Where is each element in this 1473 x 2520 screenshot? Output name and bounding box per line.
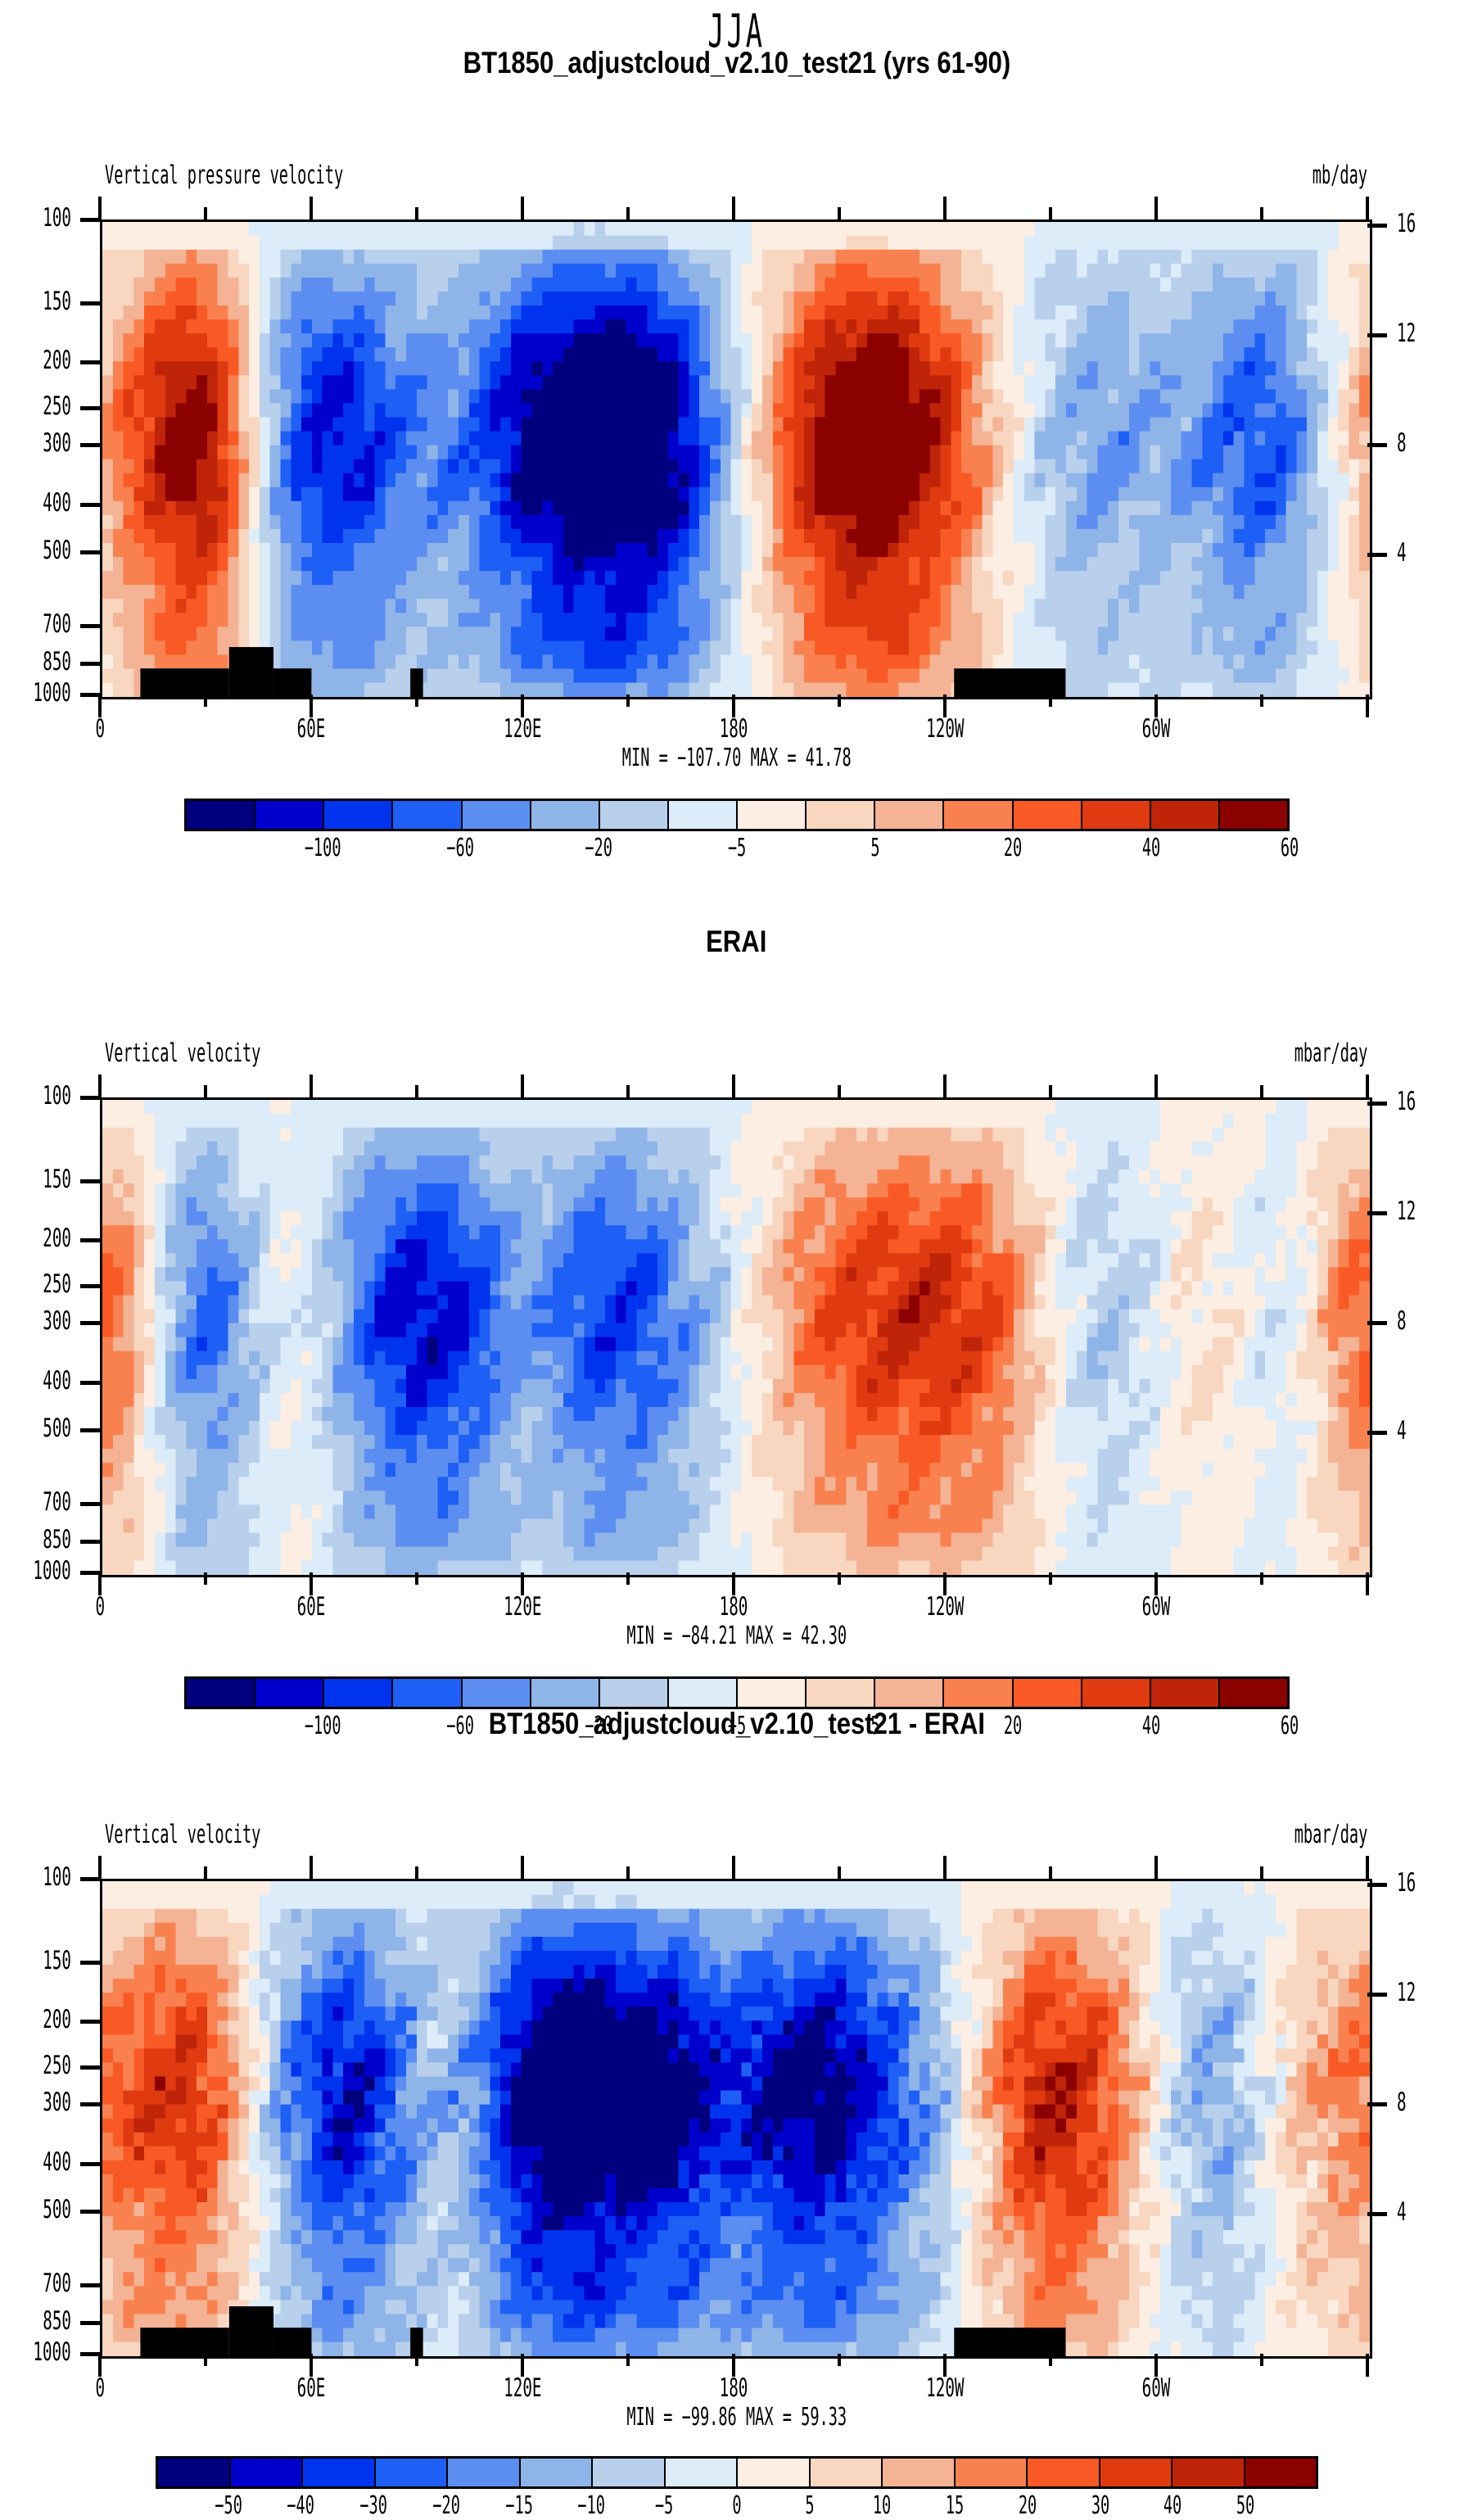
panel-model-units: mb/day — [1163, 161, 1367, 190]
panel-model-colorbar-cell — [1220, 801, 1287, 829]
panel-diff-colorbar-label-text: 5 — [805, 2491, 814, 2520]
panel-diff-colorbar-label-text: 0 — [732, 2491, 741, 2520]
panel-obs-colorbar-cell — [255, 1679, 324, 1707]
panel-diff-ylabel: 850 — [0, 2306, 71, 2336]
panel-obs-colorbar-cell — [875, 1679, 944, 1707]
panel-model-xtick-top — [732, 197, 735, 219]
panel-diff-xlabel: 120W — [871, 2373, 1019, 2403]
panel-model-xtick-top — [98, 197, 102, 219]
panel-model-ylabel: 250 — [0, 391, 71, 421]
panel-diff-ylabel: 100 — [0, 1862, 71, 1892]
panel-model-plot-area[interactable] — [100, 219, 1372, 699]
panel-diff-ylabel: 250 — [0, 2051, 71, 2080]
panel-obs-xlabel: 180 — [660, 1592, 807, 1622]
panel-diff-ytick — [80, 2321, 100, 2325]
panel-diff-xlabel-text: 120E — [504, 2373, 541, 2403]
panel-model-ytick — [80, 693, 100, 697]
panel-diff-minmax: MIN = −99.86 MAX = 59.33 — [0, 2403, 1473, 2432]
panel-diff-xtick — [1049, 2354, 1052, 2366]
panel-obs-xtick — [838, 1572, 841, 1585]
panel-obs-units-text: mbar/day — [1294, 1038, 1367, 1068]
panel-obs-y2label: 8 — [1397, 1306, 1412, 1336]
panel-obs-y2label-text: 8 — [1397, 1306, 1407, 1336]
panel-diff-ytick — [80, 1877, 100, 1881]
panel-obs-colorbar-cell — [1151, 1679, 1220, 1707]
panel-model-y2tick — [1367, 443, 1387, 447]
panel-model-xtick — [1260, 694, 1263, 707]
panel-model-xtick-top — [204, 207, 207, 219]
panel-diff-ylabel: 500 — [0, 2195, 71, 2224]
panel-model-colorbar-label: −5 — [671, 834, 802, 862]
panel-diff-xtick-top — [204, 1866, 207, 1879]
panel-model-xlabel-text: 60W — [1142, 714, 1171, 744]
panel-diff-colorbar-cell — [303, 2459, 376, 2486]
panel-diff-colorbar-cell — [231, 2459, 304, 2486]
panel-diff-xtick-top — [1366, 1856, 1369, 1879]
panel-diff-ylabel: 150 — [0, 1946, 71, 1975]
panel-obs-xtick-top — [310, 1075, 313, 1097]
panel-diff-ylabel: 700 — [0, 2269, 71, 2298]
panel-model-xlabel-text: 0 — [95, 714, 105, 744]
panel-model-colorbar-cell — [187, 801, 255, 829]
panel-obs-subtitle-left-text: Vertical velocity — [105, 1038, 260, 1068]
panel-model-ytick — [80, 503, 100, 507]
panel-model-colorbar-cell — [324, 801, 393, 829]
panel-obs-xlabel-text: 60E — [297, 1592, 326, 1622]
panel-model-colorbar-cell — [944, 801, 1013, 829]
panel-model-xtick — [1366, 694, 1369, 717]
panel-obs-xlabel: 60E — [237, 1592, 385, 1622]
panel-model-xtick-top — [1049, 207, 1052, 219]
panel-obs-y2tick — [1367, 1431, 1387, 1435]
panel-model-title-text: BT1850_adjustcloud_v2.10_test21 (yrs 61-… — [463, 46, 1010, 80]
panel-model-colorbar-label-text: −20 — [585, 834, 612, 862]
panel-diff-colorbar-cell — [593, 2459, 666, 2486]
panel-diff-title-text: BT1850_adjustcloud_v2.10_test21 - ERAI — [488, 1707, 984, 1741]
panel-diff-ylabel-text: 250 — [43, 2051, 71, 2080]
panel-diff-colorbar-cell — [1028, 2459, 1100, 2486]
panel-diff-xlabel: 60E — [237, 2373, 385, 2403]
panel-obs-ylabel-text: 200 — [43, 1224, 71, 1253]
panel-model-xtick-top — [1154, 197, 1158, 219]
panel-obs-y2label: 4 — [1397, 1416, 1412, 1445]
panel-obs-xtick — [1049, 1572, 1052, 1585]
panel-model-colorbar-label-text: −60 — [447, 834, 475, 862]
panel-model-colorbar-cell — [463, 801, 531, 829]
panel-obs-colorbar[interactable] — [184, 1676, 1290, 1709]
panel-obs-ylabel-text: 700 — [43, 1487, 71, 1517]
panel-model-title: BT1850_adjustcloud_v2.10_test21 (yrs 61-… — [0, 45, 1473, 80]
panel-diff-ylabel: 300 — [0, 2088, 71, 2117]
panel-model-ylabel: 400 — [0, 488, 71, 518]
panel-diff-ylabel: 1000 — [0, 2337, 71, 2367]
panel-model-xlabel: 60W — [1082, 714, 1230, 744]
panel-model-ylabel: 100 — [0, 203, 71, 233]
panel-obs-ytick — [80, 1381, 100, 1385]
panel-diff-subtitle-left: Vertical velocity — [105, 1820, 364, 1849]
panel-diff-xlabel-text: 0 — [95, 2373, 105, 2403]
panel-model-xtick-top — [415, 207, 418, 219]
panel-obs-y2label: 12 — [1397, 1197, 1427, 1226]
panel-model-colorbar-cell — [875, 801, 944, 829]
panel-model-ylabel-text: 300 — [43, 428, 71, 458]
panel-obs-ytick — [80, 1096, 100, 1100]
panel-obs-xtick — [415, 1572, 418, 1585]
panel-model-ytick — [80, 360, 100, 364]
panel-model-colorbar-cell — [1082, 801, 1151, 829]
panel-model-colorbar-label-text: −100 — [304, 834, 341, 862]
panel-model-ytick — [80, 218, 100, 222]
panel-obs-xlabel: 0 — [26, 1592, 174, 1622]
panel-obs-colorbar-cell — [1082, 1679, 1151, 1707]
panel-model-ylabel-text: 500 — [43, 536, 71, 565]
panel-model-ylabel-text: 1000 — [34, 678, 71, 708]
panel-model-colorbar-label: 5 — [810, 834, 941, 862]
panel-obs-contour-field — [102, 1100, 1370, 1575]
panel-model-xtick-top — [838, 207, 841, 219]
panel-model-ylabel: 500 — [0, 536, 71, 565]
panel-model-xlabel: 180 — [660, 714, 807, 744]
panel-obs-y2tick — [1367, 1321, 1387, 1325]
panel-model-units-text: mb/day — [1313, 161, 1367, 190]
panel-model-xtick — [838, 694, 841, 707]
panel-model-xlabel-text: 60E — [297, 714, 326, 744]
panel-model-ylabel-text: 200 — [43, 346, 71, 375]
panel-obs-ylabel-text: 850 — [43, 1525, 71, 1554]
panel-model-xlabel: 120W — [871, 714, 1019, 744]
panel-obs-minmax: MIN = −84.21 MAX = 42.30 — [0, 1622, 1473, 1650]
panel-model-y2label: 8 — [1397, 428, 1412, 458]
panel-diff-ylabel-text: 200 — [43, 2005, 71, 2034]
panel-diff-colorbar-cell — [158, 2459, 231, 2486]
panel-obs-xtick — [204, 1572, 207, 1585]
panel-diff-xlabel: 180 — [660, 2373, 807, 2403]
panel-model-ytick — [80, 662, 100, 666]
panel-model-colorbar-cell — [600, 801, 669, 829]
panel-model-ylabel: 700 — [0, 609, 71, 639]
panel-obs-xtick — [1260, 1572, 1263, 1585]
panel-obs-ylabel: 250 — [0, 1269, 71, 1299]
panel-obs-ytick — [80, 1540, 100, 1544]
panel-obs-subtitle-left: Vertical velocity — [105, 1038, 364, 1068]
panel-diff-colorbar-cell — [1100, 2459, 1173, 2486]
panel-model-y2tick — [1367, 333, 1387, 337]
panel-model-colorbar-label-text: −5 — [728, 834, 746, 862]
panel-diff-y2label-text: 8 — [1397, 2088, 1407, 2117]
panel-obs-colorbar-cell — [738, 1679, 807, 1707]
panel-obs-ytick — [80, 1321, 100, 1325]
panel-model-ylabel: 200 — [0, 346, 71, 375]
panel-obs-y2tick — [1367, 1211, 1387, 1215]
panel-diff-y2tick — [1367, 1883, 1387, 1887]
panel-obs-ytick — [80, 1571, 100, 1575]
panel-obs-ylabel: 700 — [0, 1487, 71, 1517]
panel-model-ylabel: 150 — [0, 287, 71, 316]
panel-model-y2label-text: 8 — [1397, 428, 1407, 458]
panel-diff-title: BT1850_adjustcloud_v2.10_test21 - ERAI — [0, 1706, 1473, 1741]
panel-diff-y2tick — [1367, 2102, 1387, 2106]
panel-obs-xlabel: 60W — [1082, 1592, 1230, 1622]
panel-model-colorbar-label: 40 — [1086, 834, 1217, 862]
panel-diff-y2tick — [1367, 1993, 1387, 1997]
panel-obs-xlabel: 120W — [871, 1592, 1019, 1622]
panel-model-xlabel-text: 180 — [720, 714, 748, 744]
panel-obs-ylabel: 1000 — [0, 1556, 71, 1586]
panel-diff-ylabel: 400 — [0, 2147, 71, 2177]
panel-obs-colorbar-cell — [669, 1679, 738, 1707]
panel-model-minmax-text: MIN = −107.70 MAX = 41.78 — [622, 744, 852, 772]
panel-diff-ylabel-text: 400 — [43, 2147, 71, 2177]
panel-obs-ylabel-text: 250 — [43, 1269, 71, 1299]
panel-model-y2label: 12 — [1397, 319, 1427, 348]
panel-obs-ytick — [80, 1502, 100, 1506]
panel-model-colorbar-cell — [393, 801, 462, 829]
panel-obs-xlabel-text: 120W — [926, 1592, 964, 1622]
panel-diff-subtitle-left-text: Vertical velocity — [105, 1820, 260, 1849]
panel-obs-colorbar-cell — [1014, 1679, 1082, 1707]
panel-obs-colorbar-cell — [600, 1679, 669, 1707]
panel-obs-y2label-text: 4 — [1397, 1416, 1407, 1445]
panel-diff-xtick-top — [943, 1856, 947, 1879]
panel-model-colorbar-label-text: 5 — [870, 834, 879, 862]
panel-diff-xlabel: 60W — [1082, 2373, 1230, 2403]
panel-diff-y2label-text: 12 — [1397, 1978, 1416, 2007]
panel-model-y2tick — [1367, 224, 1387, 228]
panel-obs-xtick-top — [838, 1085, 841, 1097]
panel-diff-colorbar-cell — [376, 2459, 449, 2486]
panel-diff-xtick-top — [415, 1866, 418, 1879]
panel-obs-ylabel-text: 1000 — [34, 1556, 71, 1586]
panel-diff-colorbar[interactable] — [156, 2456, 1318, 2489]
panel-obs-xtick-top — [98, 1075, 102, 1097]
panel-diff-y2label: 16 — [1397, 1868, 1427, 1898]
panel-model-colorbar-cell — [738, 801, 807, 829]
panel-model-colorbar[interactable] — [184, 799, 1290, 831]
panel-model-ytick — [80, 443, 100, 447]
panel-model-xlabel-text: 120E — [504, 714, 541, 744]
panel-obs-ylabel: 500 — [0, 1414, 71, 1443]
panel-obs-title-text: ERAI — [706, 925, 766, 959]
panel-model-colorbar-label-text: 20 — [1004, 834, 1022, 862]
panel-diff-minmax-text: MIN = −99.86 MAX = 59.33 — [626, 2403, 847, 2432]
panel-obs-xtick-top — [1049, 1085, 1052, 1097]
panel-diff-y2tick — [1367, 2212, 1387, 2216]
panel-obs-xlabel: 120E — [449, 1592, 596, 1622]
panel-obs-y2tick — [1367, 1102, 1387, 1106]
panel-model-colorbar-cell — [255, 801, 324, 829]
panel-obs-xtick — [1366, 1572, 1369, 1595]
panel-obs-ylabel: 400 — [0, 1366, 71, 1396]
panel-model-colorbar-label: 60 — [1224, 834, 1355, 862]
panel-diff-xlabel-text: 60E — [297, 2373, 326, 2403]
panel-diff-xtick-top — [1049, 1866, 1052, 1879]
panel-diff-xtick-top — [626, 1866, 630, 1879]
panel-diff-colorbar-cell — [448, 2459, 521, 2486]
panel-diff-xtick-top — [838, 1866, 841, 1879]
panel-obs-ylabel: 150 — [0, 1165, 71, 1194]
panel-diff-ytick — [80, 2065, 100, 2070]
panel-obs-ylabel: 850 — [0, 1525, 71, 1554]
panel-model-ylabel: 300 — [0, 428, 71, 458]
panel-diff-xtick-top — [98, 1856, 102, 1879]
panel-model-xtick-top — [1260, 207, 1263, 219]
panel-model-subtitle-left: Vertical pressure velocity — [105, 161, 502, 190]
panel-diff-xtick — [626, 2354, 630, 2366]
panel-model-ylabel-text: 150 — [43, 287, 71, 316]
panel-diff-xlabel: 0 — [26, 2373, 174, 2403]
panel-diff-ytick — [80, 1961, 100, 1965]
panel-diff-colorbar-cell — [956, 2459, 1028, 2486]
panel-diff-colorbar-cell — [883, 2459, 956, 2486]
panel-obs-xlabel-text: 60W — [1142, 1592, 1171, 1622]
panel-obs-ylabel: 300 — [0, 1306, 71, 1336]
panel-diff-ylabel-text: 150 — [43, 1946, 71, 1975]
panel-model-xtick-top — [310, 197, 313, 219]
panel-obs-xlabel-text: 0 — [95, 1592, 105, 1622]
panel-model-ytick — [80, 550, 100, 554]
panel-obs-ytick — [80, 1238, 100, 1242]
panel-obs-ylabel: 200 — [0, 1224, 71, 1253]
panel-diff-ylabel-text: 300 — [43, 2088, 71, 2117]
panel-model-xlabel: 0 — [26, 714, 174, 744]
panel-obs-units: mbar/day — [1163, 1038, 1367, 1068]
panel-diff-ylabel-text: 850 — [43, 2306, 71, 2336]
panel-model-colorbar-label-text: 40 — [1142, 834, 1160, 862]
panel-diff-y2label: 4 — [1397, 2197, 1412, 2227]
panel-diff-colorbar-cell — [811, 2459, 883, 2486]
panel-obs-xtick-top — [943, 1075, 947, 1097]
panel-diff-ytick — [80, 2020, 100, 2024]
panel-diff-ytick — [80, 2210, 100, 2214]
panel-model-y2tick — [1367, 553, 1387, 557]
panel-model-colorbar-cell — [669, 801, 738, 829]
panel-diff-y2label: 12 — [1397, 1978, 1427, 2007]
panel-obs-y2label: 16 — [1397, 1087, 1427, 1116]
panel-model-xtick — [1049, 694, 1052, 707]
panel-obs-ylabel-text: 400 — [43, 1366, 71, 1396]
panel-model-ylabel-text: 700 — [43, 609, 71, 639]
panel-obs-xtick-top — [626, 1085, 630, 1097]
panel-model-colorbar-cell — [531, 801, 600, 829]
panel-model-ylabel: 1000 — [0, 678, 71, 708]
panel-model-colorbar-cell — [1151, 801, 1220, 829]
panel-obs-xtick-top — [1260, 1085, 1263, 1097]
panel-obs-xtick — [626, 1572, 630, 1585]
panel-model-xtick-top — [943, 197, 947, 219]
panel-diff-units: mbar/day — [1163, 1820, 1367, 1849]
panel-diff-xtick — [204, 2354, 207, 2366]
panel-model-colorbar-label: −20 — [533, 834, 664, 862]
panel-diff-ytick — [80, 2102, 100, 2106]
panel-diff-xtick — [1366, 2354, 1369, 2377]
panel-model-ylabel-text: 100 — [43, 203, 71, 233]
panel-diff-colorbar-cell — [738, 2459, 811, 2486]
panel-model-xtick — [204, 694, 207, 707]
panel-obs-colorbar-cell — [463, 1679, 531, 1707]
panel-obs-xtick-top — [415, 1085, 418, 1097]
panel-diff-xlabel-text: 120W — [926, 2373, 964, 2403]
panel-diff-colorbar-label: 50 — [1180, 2491, 1311, 2520]
panel-diff-xlabel-text: 180 — [720, 2373, 748, 2403]
panel-model-xtick — [415, 694, 418, 707]
panel-diff-ylabel-text: 1000 — [34, 2337, 71, 2367]
panel-diff-units-text: mbar/day — [1294, 1820, 1367, 1849]
panel-model-ytick — [80, 406, 100, 410]
panel-model-y2label-text: 12 — [1397, 319, 1416, 348]
panel-diff-ytick — [80, 2352, 100, 2356]
panel-model-xtick-top — [626, 207, 630, 219]
panel-model-y2label: 16 — [1397, 209, 1427, 238]
panel-model-ylabel-text: 850 — [43, 647, 71, 676]
panel-obs-colorbar-cell — [1220, 1679, 1287, 1707]
panel-diff-ylabel-text: 500 — [43, 2195, 71, 2224]
panel-model-minmax: MIN = −107.70 MAX = 41.78 — [0, 744, 1473, 772]
panel-diff-colorbar-cell — [1245, 2459, 1317, 2486]
panel-obs-xlabel-text: 180 — [720, 1592, 748, 1622]
panel-diff-plot-area[interactable] — [100, 1879, 1372, 2359]
panel-model-xlabel: 60E — [237, 714, 385, 744]
panel-obs-plot-area[interactable] — [100, 1097, 1372, 1577]
panel-diff-xlabel: 120E — [449, 2373, 596, 2403]
panel-diff-xtick-top — [521, 1856, 524, 1879]
panel-obs-ytick — [80, 1428, 100, 1432]
panel-model-subtitle-left-text: Vertical pressure velocity — [105, 161, 343, 190]
panel-diff-ylabel: 200 — [0, 2005, 71, 2034]
panel-obs-y2label-text: 16 — [1397, 1087, 1416, 1116]
panel-obs-title: ERAI — [0, 924, 1473, 959]
panel-obs-ylabel-text: 500 — [43, 1414, 71, 1443]
panel-obs-colorbar-cell — [944, 1679, 1013, 1707]
panel-diff-colorbar-label-text: 50 — [1236, 2491, 1254, 2520]
panel-obs-ylabel: 100 — [0, 1081, 71, 1111]
panel-diff-colorbar-cell — [521, 2459, 594, 2486]
panel-diff-ylabel-text: 100 — [43, 1862, 71, 1892]
panel-model-ylabel-text: 250 — [43, 391, 71, 421]
panel-diff-ytick — [80, 2162, 100, 2166]
panel-obs-xtick-top — [1366, 1075, 1369, 1097]
panel-obs-colorbar-cell — [393, 1679, 462, 1707]
panel-model-ytick — [80, 624, 100, 628]
panel-obs-xtick-top — [521, 1075, 524, 1097]
panel-model-xtick-top — [1366, 197, 1369, 219]
panel-model-colorbar-cell — [1014, 801, 1082, 829]
panel-obs-xtick-top — [1154, 1075, 1158, 1097]
panel-obs-ylabel-text: 150 — [43, 1165, 71, 1194]
panel-diff-xtick-top — [1260, 1866, 1263, 1879]
panel-obs-minmax-text: MIN = −84.21 MAX = 42.30 — [626, 1622, 847, 1650]
panel-obs-xlabel-text: 120E — [504, 1592, 541, 1622]
panel-diff-xtick — [415, 2354, 418, 2366]
panel-model-y2label-text: 4 — [1397, 538, 1407, 568]
panel-model-contour-field — [102, 222, 1370, 697]
panel-model-ytick — [80, 301, 100, 305]
panel-model-xtick-top — [521, 197, 524, 219]
panel-diff-xtick-top — [732, 1856, 735, 1879]
panel-obs-xtick-top — [204, 1085, 207, 1097]
panel-model-colorbar-label: 20 — [948, 834, 1079, 862]
panel-model-colorbar-label: −60 — [395, 834, 526, 862]
panel-diff-ytick — [80, 2283, 100, 2287]
panel-obs-ytick — [80, 1179, 100, 1183]
panel-obs-colorbar-cell — [187, 1679, 255, 1707]
panel-diff-colorbar-cell — [1173, 2459, 1245, 2486]
panel-obs-xtick-top — [732, 1075, 735, 1097]
panel-diff-xtick — [1260, 2354, 1263, 2366]
panel-diff-y2label: 8 — [1397, 2088, 1412, 2117]
panel-model-xlabel-text: 120W — [926, 714, 964, 744]
panel-diff-xtick — [838, 2354, 841, 2366]
panel-diff-y2label-text: 16 — [1397, 1868, 1416, 1898]
